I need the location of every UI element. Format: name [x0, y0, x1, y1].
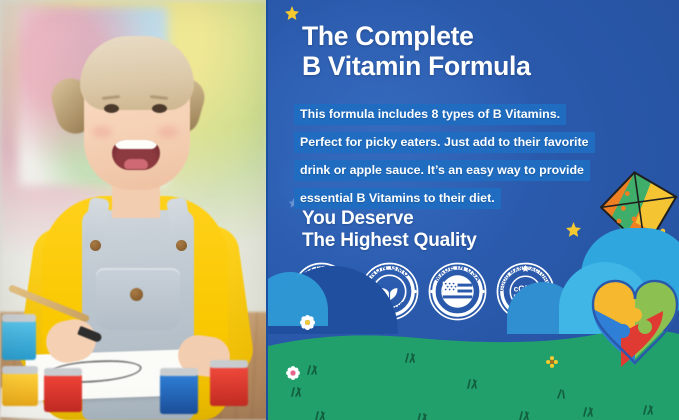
badge-made-in-usa: MADE IN USA WITH GLOBAL INGREDIENTS	[428, 262, 487, 321]
title-line-2: B Vitamin Formula	[302, 52, 622, 82]
description-line: drink or apple sauce. It’s an easy way t…	[294, 160, 590, 181]
photo-vignette	[0, 0, 268, 420]
yellow-flower-icon	[546, 356, 558, 368]
promo-image: The Complete B Vitamin Formula This form…	[0, 0, 679, 420]
usa-flag-icon	[443, 282, 473, 299]
info-panel: The Complete B Vitamin Formula This form…	[268, 0, 679, 420]
star-icon	[284, 6, 300, 27]
description-line: Perfect for picky eaters. Just add to th…	[294, 132, 595, 153]
description-line: This formula includes 8 types of B Vitam…	[294, 104, 566, 125]
pink-flower-icon	[286, 366, 300, 380]
child-painting-photo	[0, 0, 268, 420]
subheading-line-1: You Deserve	[302, 208, 602, 230]
page-title: The Complete B Vitamin Formula	[302, 22, 622, 81]
puzzle-heart-icon	[583, 275, 679, 382]
description-line: essential B Vitamins to their diet.	[294, 188, 501, 209]
svg-text:NON GMO: NON GMO	[367, 262, 412, 279]
title-line-1: The Complete	[302, 22, 622, 52]
subheading: You Deserve The Highest Quality	[302, 208, 602, 252]
daisy-icon	[300, 315, 315, 330]
subheading-line-2: The Highest Quality	[302, 230, 602, 252]
